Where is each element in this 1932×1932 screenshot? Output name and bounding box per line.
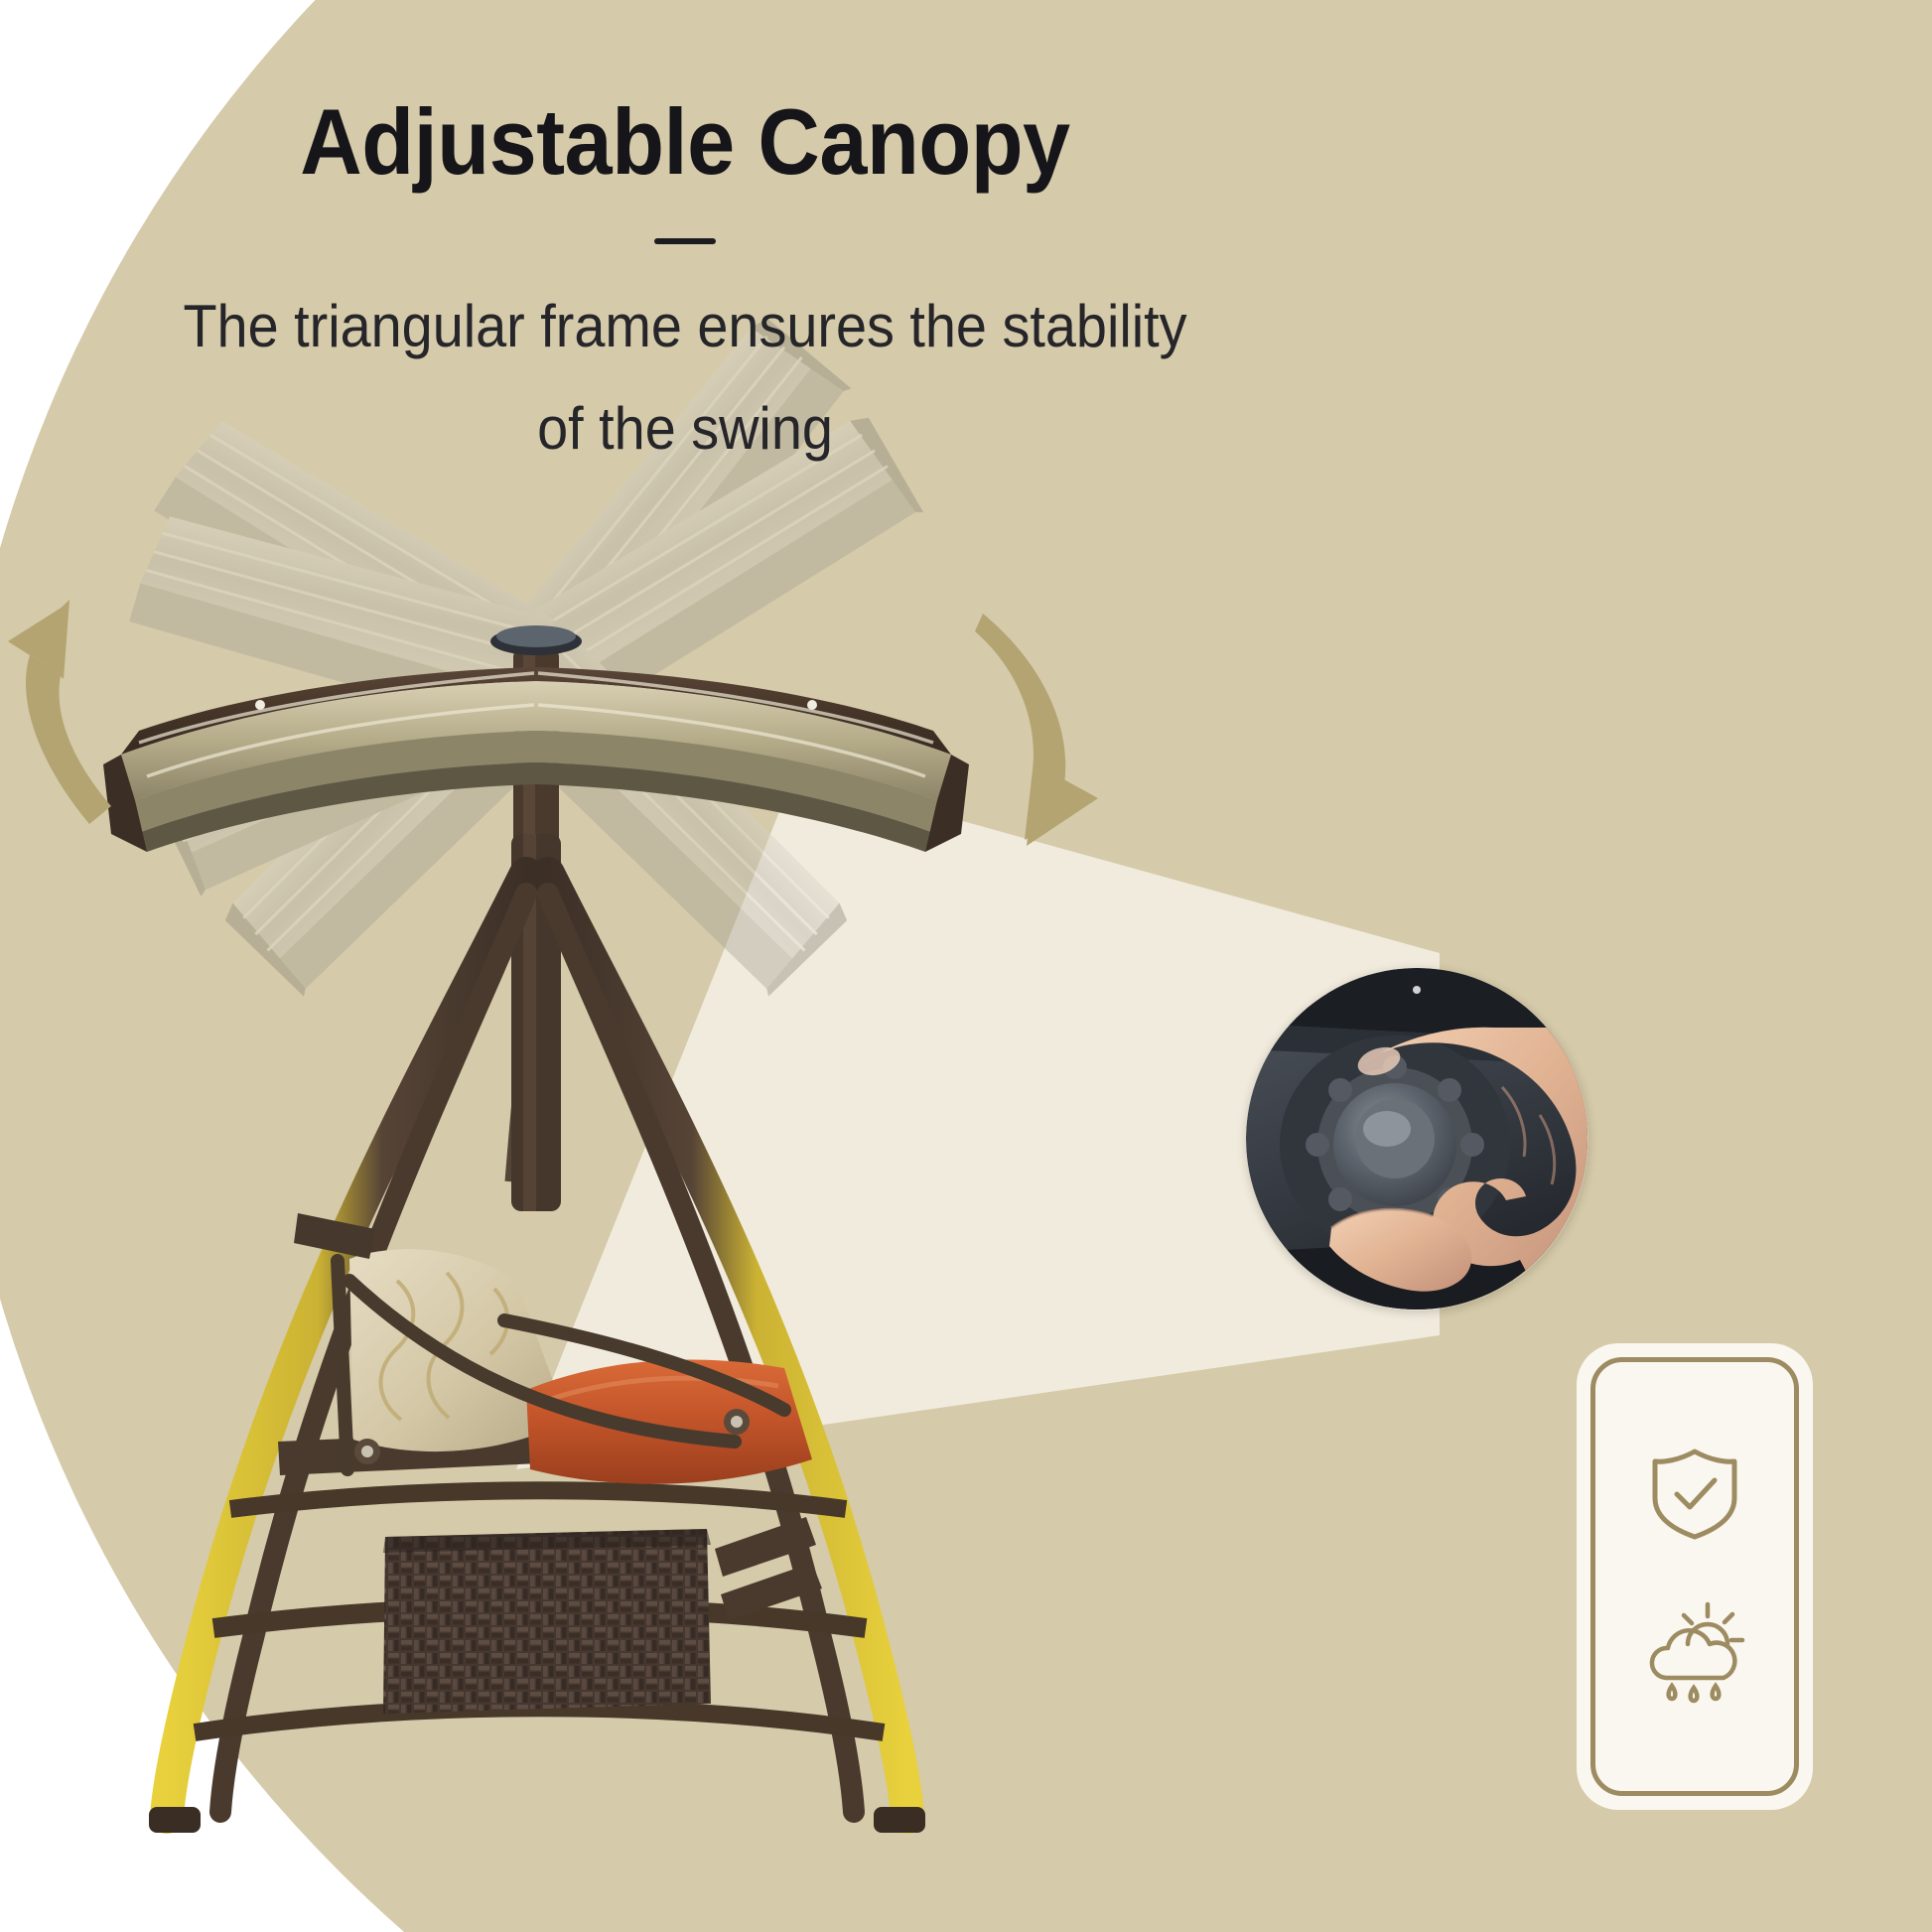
sun-cloud-rain-icon: All-weather resistant: [1640, 1600, 1749, 1709]
adjustment-knob-detail-photo[interactable]: [1246, 968, 1588, 1311]
page-title: Adjustable Canopy: [55, 95, 1315, 189]
headline-block: Adjustable Canopy The triangular frame e…: [0, 95, 1370, 477]
shield-check-icon: Durable & protected: [1649, 1445, 1740, 1547]
subtitle-line-2: of the swing: [48, 380, 1321, 477]
subtitle-line-1: The triangular frame ensures the stabili…: [48, 278, 1321, 374]
rotate-right-arrow: [975, 614, 1098, 846]
rotate-left-arrow: [8, 600, 111, 824]
feature-badge-card: Durable & protected: [1577, 1343, 1813, 1810]
title-divider: [654, 238, 716, 244]
infographic-canvas: Adjustable Canopy The triangular frame e…: [0, 0, 1932, 1932]
